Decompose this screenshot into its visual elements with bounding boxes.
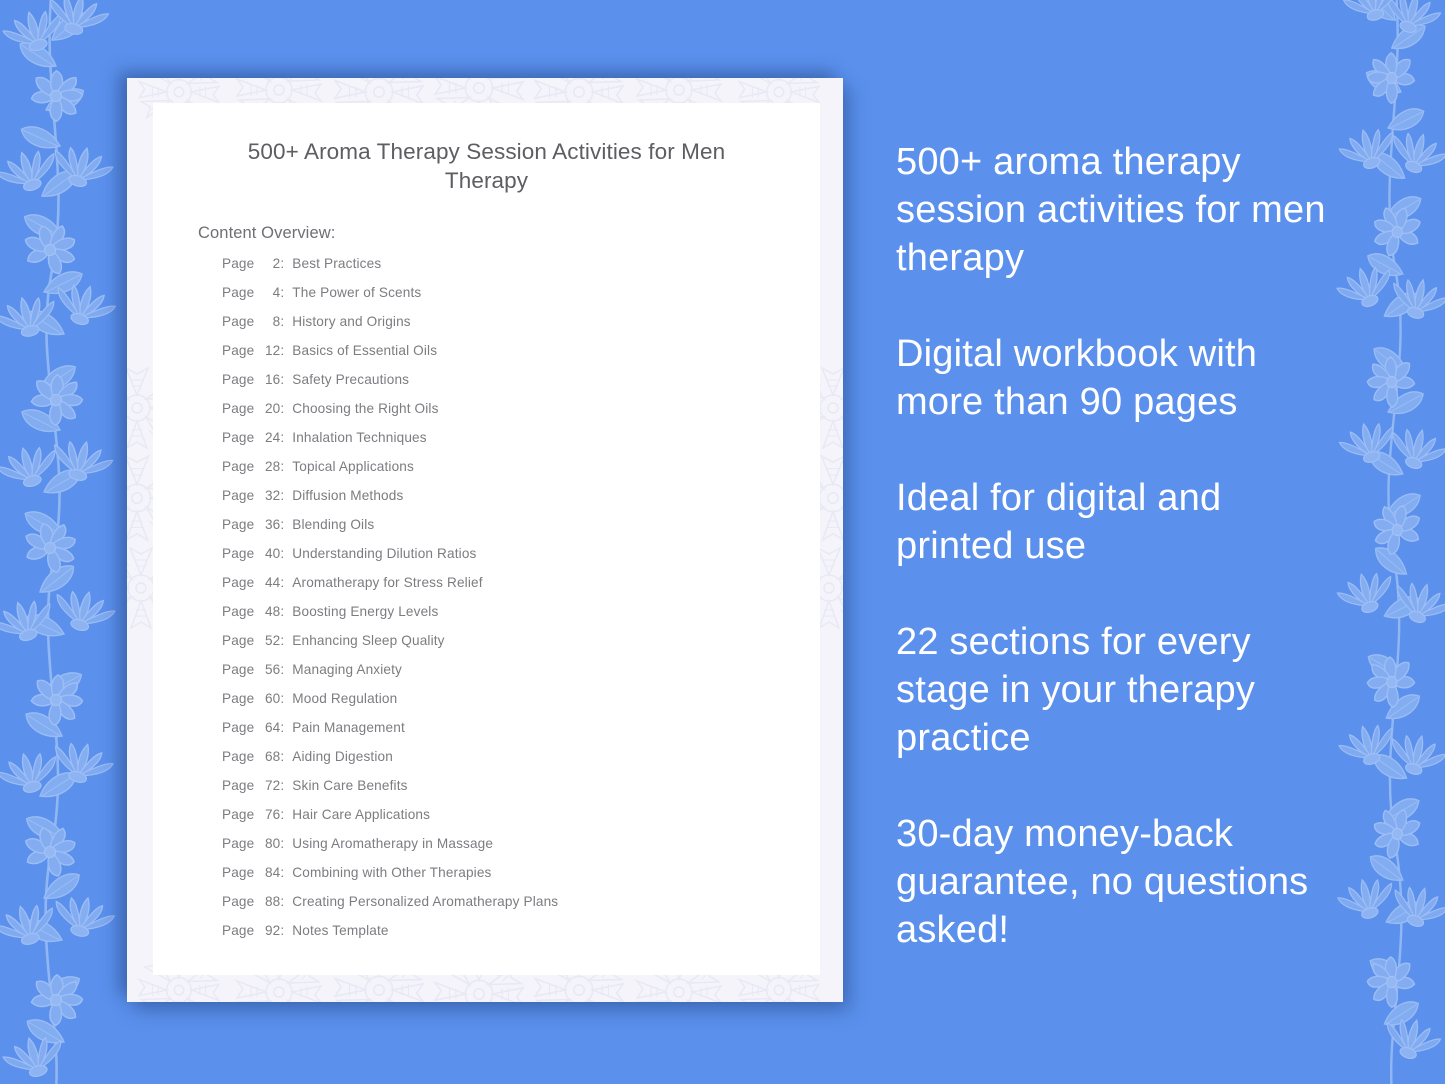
toc-page-word: Page (222, 749, 254, 764)
toc-row: Page76:Hair Care Applications (153, 807, 820, 836)
toc-page-number: 56 (254, 662, 280, 677)
toc-colon: : (280, 662, 292, 677)
toc-topic: Pain Management (292, 720, 405, 735)
toc-topic: Hair Care Applications (292, 807, 430, 822)
toc-page-number: 92 (254, 923, 280, 938)
toc-page-number: 88 (254, 894, 280, 909)
toc-topic: Blending Oils (292, 517, 374, 532)
toc-colon: : (280, 633, 292, 648)
toc-page-word: Page (222, 430, 254, 445)
toc-page-word: Page (222, 459, 254, 474)
toc-colon: : (280, 459, 292, 474)
toc-colon: : (280, 691, 292, 706)
toc-colon: : (280, 372, 292, 387)
toc-topic: Aromatherapy for Stress Relief (292, 575, 482, 590)
toc-topic: Best Practices (292, 256, 381, 271)
toc-page-number: 28 (254, 459, 280, 474)
toc-colon: : (280, 807, 292, 822)
toc-row: Page68:Aiding Digestion (153, 749, 820, 778)
promo-feature-list: 500+ aroma therapy session activities fo… (896, 138, 1326, 954)
toc-colon: : (280, 836, 292, 851)
toc-topic: Using Aromatherapy in Massage (292, 836, 493, 851)
toc-colon: : (280, 604, 292, 619)
toc-page-number: 84 (254, 865, 280, 880)
toc-colon: : (280, 256, 292, 271)
toc-colon: : (280, 401, 292, 416)
toc-colon: : (280, 749, 292, 764)
toc-row: Page64:Pain Management (153, 720, 820, 749)
toc-page-word: Page (222, 372, 254, 387)
toc-page-word: Page (222, 314, 254, 329)
toc-topic: Topical Applications (292, 459, 414, 474)
toc-colon: : (280, 285, 292, 300)
toc-row: Page8:History and Origins (153, 314, 820, 343)
toc-page-word: Page (222, 488, 254, 503)
toc-colon: : (280, 546, 292, 561)
toc-colon: : (280, 894, 292, 909)
toc-topic: Managing Anxiety (292, 662, 402, 677)
toc-topic: Combining with Other Therapies (292, 865, 491, 880)
content-overview-label: Content Overview: (153, 195, 820, 243)
toc-colon: : (280, 343, 292, 358)
toc-row: Page72:Skin Care Benefits (153, 778, 820, 807)
toc-topic: Safety Precautions (292, 372, 409, 387)
toc-page-number: 36 (254, 517, 280, 532)
toc-page-number: 52 (254, 633, 280, 648)
toc-page-word: Page (222, 575, 254, 590)
toc-colon: : (280, 517, 292, 532)
toc-page-number: 60 (254, 691, 280, 706)
toc-page-number: 20 (254, 401, 280, 416)
toc-row: Page20:Choosing the Right Oils (153, 401, 820, 430)
toc-page-word: Page (222, 720, 254, 735)
toc-row: Page36:Blending Oils (153, 517, 820, 546)
toc-page-number: 44 (254, 575, 280, 590)
toc-colon: : (280, 314, 292, 329)
toc-page-number: 76 (254, 807, 280, 822)
toc-row: Page44:Aromatherapy for Stress Relief (153, 575, 820, 604)
document-preview-card[interactable]: 500+ Aroma Therapy Session Activities fo… (127, 78, 843, 1002)
promo-line: Digital workbook with more than 90 pages (896, 330, 1326, 426)
toc-row: Page4:The Power of Scents (153, 285, 820, 314)
toc-topic: Creating Personalized Aromatherapy Plans (292, 894, 558, 909)
toc-page-number: 80 (254, 836, 280, 851)
toc-page-word: Page (222, 546, 254, 561)
toc-topic: History and Origins (292, 314, 410, 329)
toc-row: Page16:Safety Precautions (153, 372, 820, 401)
page-title: 500+ Aroma Therapy Session Activities fo… (153, 103, 820, 195)
toc-page-number: 24 (254, 430, 280, 445)
toc-page-word: Page (222, 836, 254, 851)
toc-colon: : (280, 778, 292, 793)
toc-colon: : (280, 575, 292, 590)
toc-page-number: 48 (254, 604, 280, 619)
toc-page-word: Page (222, 923, 254, 938)
toc-colon: : (280, 865, 292, 880)
toc-page-word: Page (222, 285, 254, 300)
toc-topic: Understanding Dilution Ratios (292, 546, 476, 561)
toc-page-word: Page (222, 894, 254, 909)
toc-page-word: Page (222, 662, 254, 677)
toc-topic: Aiding Digestion (292, 749, 393, 764)
toc-topic: Enhancing Sleep Quality (292, 633, 444, 648)
promo-line: 30-day money-back guarantee, no question… (896, 810, 1326, 954)
toc-topic: Basics of Essential Oils (292, 343, 437, 358)
toc-page-number: 40 (254, 546, 280, 561)
toc-colon: : (280, 923, 292, 938)
table-of-contents: Page2:Best PracticesPage4:The Power of S… (153, 243, 820, 952)
toc-row: Page88:Creating Personalized Aromatherap… (153, 894, 820, 923)
toc-colon: : (280, 430, 292, 445)
toc-row: Page32:Diffusion Methods (153, 488, 820, 517)
floral-vine-left-icon (0, 0, 124, 1084)
toc-page-number: 72 (254, 778, 280, 793)
document-page: 500+ Aroma Therapy Session Activities fo… (153, 103, 820, 975)
toc-row: Page40:Understanding Dilution Ratios (153, 546, 820, 575)
toc-page-number: 2 (254, 256, 280, 271)
toc-row: Page2:Best Practices (153, 256, 820, 285)
toc-page-word: Page (222, 778, 254, 793)
toc-page-word: Page (222, 517, 254, 532)
toc-topic: Diffusion Methods (292, 488, 403, 503)
toc-topic: Notes Template (292, 923, 388, 938)
promo-line: Ideal for digital and printed use (896, 474, 1326, 570)
toc-page-word: Page (222, 633, 254, 648)
toc-topic: The Power of Scents (292, 285, 421, 300)
toc-page-number: 12 (254, 343, 280, 358)
toc-page-number: 16 (254, 372, 280, 387)
toc-row: Page52:Enhancing Sleep Quality (153, 633, 820, 662)
toc-topic: Choosing the Right Oils (292, 401, 438, 416)
toc-page-word: Page (222, 343, 254, 358)
toc-page-word: Page (222, 691, 254, 706)
toc-topic: Skin Care Benefits (292, 778, 407, 793)
toc-topic: Boosting Energy Levels (292, 604, 438, 619)
toc-row: Page92:Notes Template (153, 923, 820, 952)
toc-page-word: Page (222, 807, 254, 822)
toc-page-word: Page (222, 865, 254, 880)
toc-row: Page84:Combining with Other Therapies (153, 865, 820, 894)
toc-row: Page24:Inhalation Techniques (153, 430, 820, 459)
toc-page-number: 68 (254, 749, 280, 764)
toc-colon: : (280, 720, 292, 735)
toc-page-number: 8 (254, 314, 280, 329)
toc-page-word: Page (222, 256, 254, 271)
toc-page-number: 64 (254, 720, 280, 735)
toc-row: Page56:Managing Anxiety (153, 662, 820, 691)
toc-row: Page48:Boosting Energy Levels (153, 604, 820, 633)
toc-page-number: 32 (254, 488, 280, 503)
toc-row: Page12:Basics of Essential Oils (153, 343, 820, 372)
promo-line: 22 sections for every stage in your ther… (896, 618, 1326, 762)
toc-row: Page80:Using Aromatherapy in Massage (153, 836, 820, 865)
toc-topic: Inhalation Techniques (292, 430, 426, 445)
toc-colon: : (280, 488, 292, 503)
toc-row: Page28:Topical Applications (153, 459, 820, 488)
toc-page-number: 4 (254, 285, 280, 300)
toc-topic: Mood Regulation (292, 691, 397, 706)
toc-page-word: Page (222, 401, 254, 416)
promo-line: 500+ aroma therapy session activities fo… (896, 138, 1326, 282)
toc-row: Page60:Mood Regulation (153, 691, 820, 720)
toc-page-word: Page (222, 604, 254, 619)
floral-vine-right-icon (1329, 0, 1445, 1084)
